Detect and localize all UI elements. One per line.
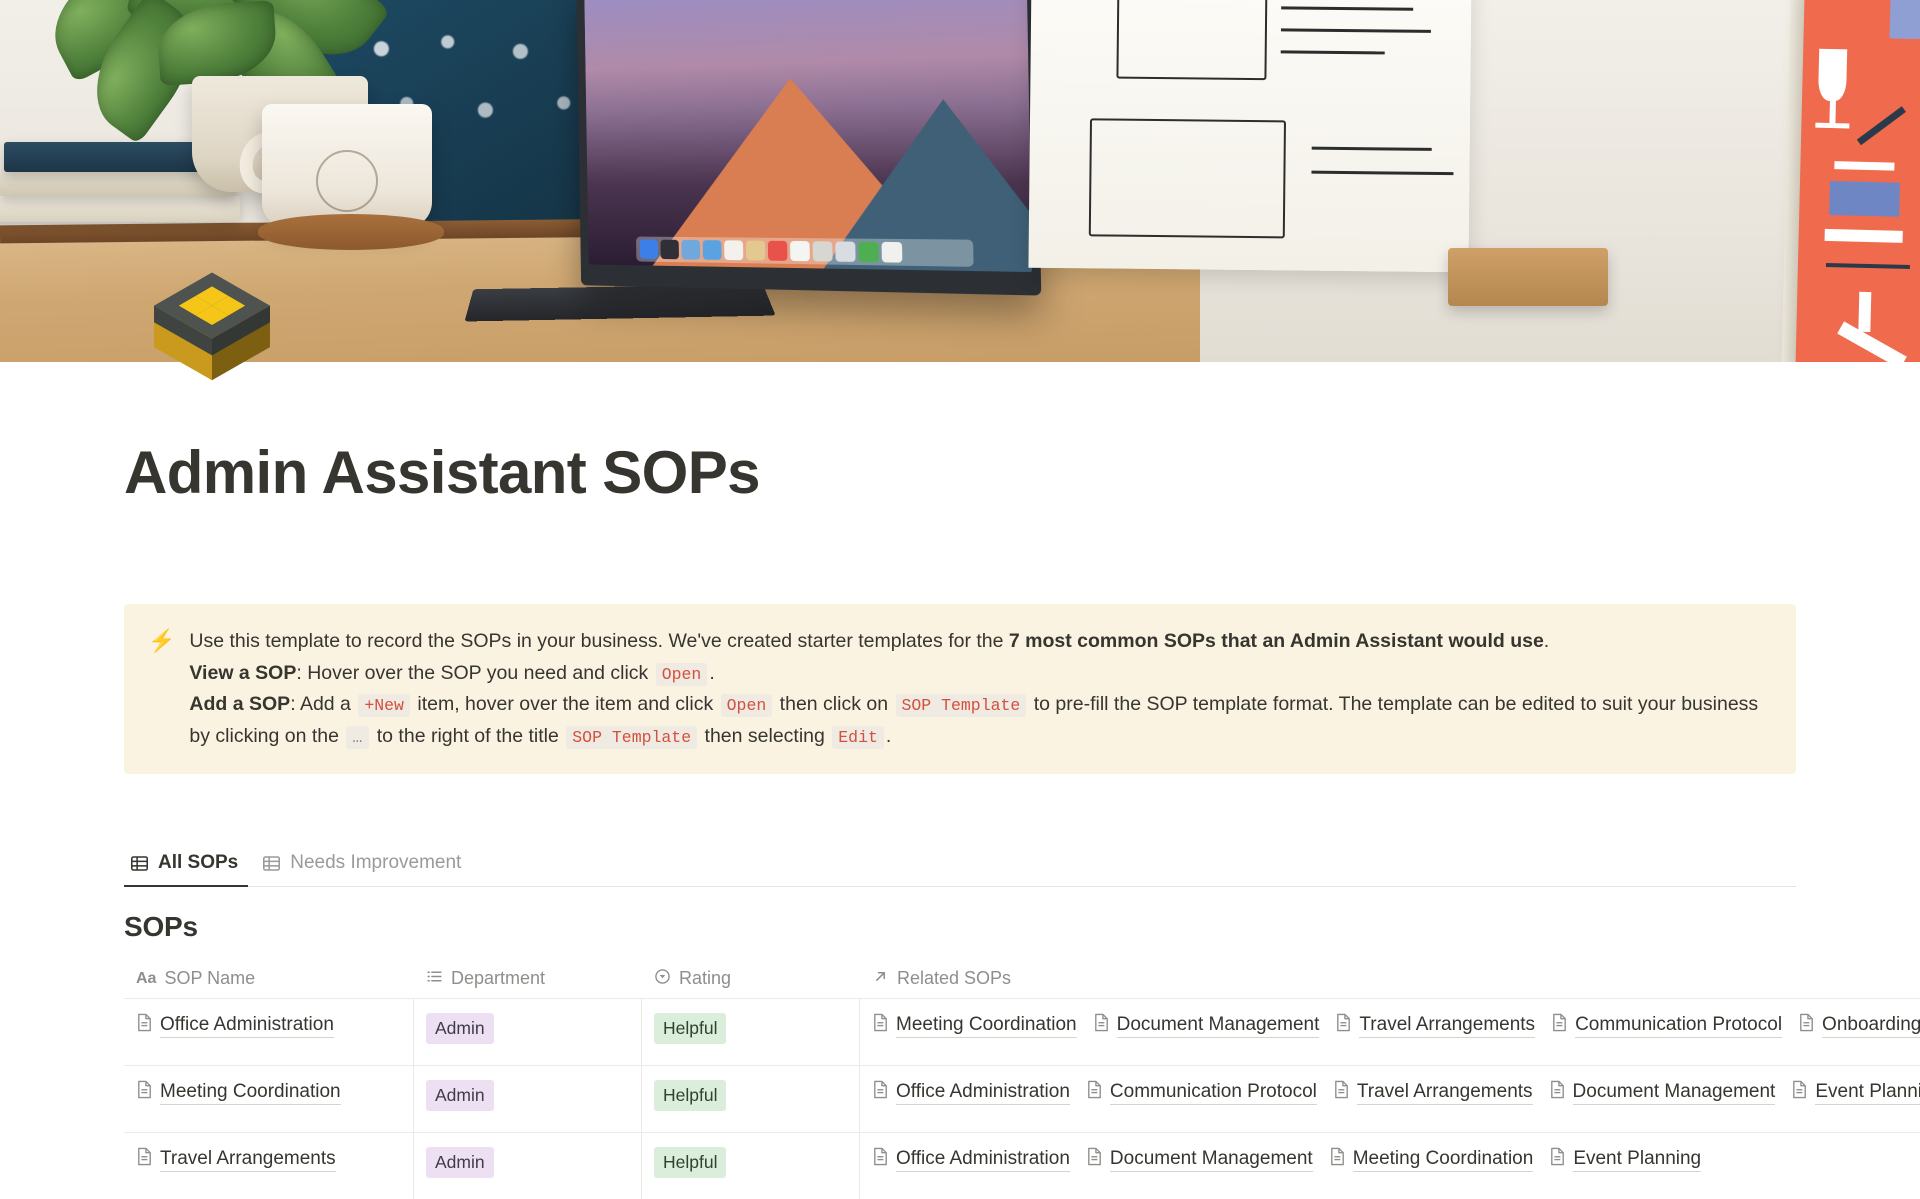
rating-tag: Helpful (654, 1080, 726, 1110)
related-sop-label: Event Planning (1815, 1081, 1920, 1105)
page-document-icon (1333, 1080, 1350, 1105)
cell-sop-name[interactable]: Meeting Coordination (124, 1066, 414, 1132)
cover-wood-block (1448, 248, 1608, 306)
rating-tag: Helpful (654, 1147, 726, 1177)
chip-open-add[interactable]: Open (721, 694, 773, 717)
related-sop-link[interactable]: Document Management (1093, 1013, 1320, 1038)
page-cover-photo (0, 0, 1920, 362)
page-document-icon (1329, 1147, 1346, 1172)
related-sop-link[interactable]: Meeting Coordination (1329, 1147, 1534, 1172)
page-document-icon (872, 1147, 889, 1172)
table-icon (130, 854, 149, 873)
related-sop-label: Travel Arrangements (1357, 1081, 1533, 1105)
related-sop-link[interactable]: Document Management (1086, 1147, 1313, 1172)
cell-sop-name[interactable]: Travel Arrangements (124, 1133, 414, 1199)
related-sop-label: Meeting Coordination (1353, 1148, 1534, 1172)
related-sop-link[interactable]: Travel Arrangements (1333, 1080, 1533, 1105)
related-sop-link[interactable]: Onboarding New Employees (1798, 1013, 1920, 1038)
callout-text: Use this template to record the SOPs in … (189, 626, 1770, 752)
cover-laptop (576, 0, 1041, 296)
department-tag: Admin (426, 1147, 494, 1177)
database-view-tabs: All SOPs Needs Improvement (124, 846, 1796, 887)
cell-rating[interactable]: Helpful (642, 1133, 860, 1199)
cell-department[interactable]: Admin (414, 1133, 642, 1199)
callout-line3-f: then selecting (699, 725, 830, 747)
cover-mug-logo (316, 150, 378, 212)
multi-select-icon (426, 968, 443, 990)
sop-name-link[interactable]: Meeting Coordination (136, 1080, 341, 1105)
cover-laptop-base (465, 284, 776, 321)
related-sop-link[interactable]: Event Planning (1549, 1147, 1701, 1172)
tab-all-sops-label: All SOPs (158, 852, 238, 874)
related-sop-label: Communication Protocol (1110, 1081, 1317, 1105)
callout-line1-bold: 7 most common SOPs that an Admin Assista… (1009, 630, 1544, 652)
callout-line1-tail: . (1544, 630, 1549, 652)
page-body: Admin Assistant SOPs ⚡ Use this template… (0, 362, 1920, 1199)
column-header-rating-label: Rating (679, 968, 731, 989)
column-header-related-sops[interactable]: Related SOPs (860, 959, 1920, 998)
related-sop-label: Onboarding New Employees (1822, 1014, 1920, 1038)
column-header-sop-name-label: SOP Name (164, 968, 255, 989)
title-aa-icon: Aa (136, 970, 156, 988)
callout-line3-a: : Add a (290, 693, 356, 715)
callout-line3-e: to the right of the title (371, 725, 564, 747)
department-tag: Admin (426, 1080, 494, 1110)
related-sop-link[interactable]: Travel Arrangements (1335, 1013, 1535, 1038)
cell-related-sops[interactable]: Office Administration Document Managemen… (860, 1133, 1920, 1199)
column-header-related-sops-label: Related SOPs (897, 968, 1011, 989)
page-icon-cube[interactable] (143, 256, 281, 394)
cell-related-sops[interactable]: Office Administration Communication Prot… (860, 1066, 1920, 1132)
tab-needs-improvement[interactable]: Needs Improvement (256, 846, 471, 886)
related-sop-link[interactable]: Meeting Coordination (872, 1013, 1077, 1038)
page-document-icon (872, 1013, 889, 1038)
related-sop-link[interactable]: Communication Protocol (1086, 1080, 1317, 1105)
cover-laptop-wallpaper (584, 0, 1032, 272)
page-document-icon (1335, 1013, 1352, 1038)
cover-sketch-paper (1028, 0, 1471, 272)
page-document-icon (1086, 1147, 1103, 1172)
table-rows-container: Office Administration Admin Helpful Meet… (124, 999, 1920, 1199)
callout-line2-b: . (709, 662, 714, 684)
cell-department[interactable]: Admin (414, 1066, 642, 1132)
page-document-icon (136, 1013, 153, 1038)
table-icon (262, 854, 281, 873)
page-document-icon (1549, 1147, 1566, 1172)
table-row[interactable]: Office Administration Admin Helpful Meet… (124, 999, 1920, 1066)
cell-rating[interactable]: Helpful (642, 999, 860, 1065)
related-sop-link[interactable]: Office Administration (872, 1080, 1070, 1105)
callout-line3-b: item, hover over the item and click (412, 693, 719, 715)
chip-open-view[interactable]: Open (656, 663, 708, 686)
related-sop-label: Event Planning (1573, 1148, 1701, 1172)
related-sop-label: Office Administration (896, 1148, 1070, 1172)
callout-view-label: View a SOP (189, 662, 296, 684)
related-sop-label: Document Management (1573, 1081, 1776, 1105)
page-document-icon (1086, 1080, 1103, 1105)
callout-line2-a: : Hover over the SOP you need and click (296, 662, 653, 684)
sop-name-link[interactable]: Travel Arrangements (136, 1147, 336, 1172)
related-sop-label: Communication Protocol (1575, 1014, 1782, 1038)
chip-sop-template-2[interactable]: SOP Template (566, 726, 697, 749)
page-document-icon (1549, 1080, 1566, 1105)
column-header-sop-name[interactable]: Aa SOP Name (124, 959, 414, 998)
column-header-department-label: Department (451, 968, 545, 989)
rating-tag: Helpful (654, 1013, 726, 1043)
cell-department[interactable]: Admin (414, 999, 642, 1065)
cover-mug-coaster (258, 214, 444, 250)
cover-coral-poster (1795, 0, 1920, 362)
select-icon (654, 968, 671, 990)
callout-block: ⚡ Use this template to record the SOPs i… (124, 604, 1796, 774)
cell-rating[interactable]: Helpful (642, 1066, 860, 1132)
callout-add-label: Add a SOP (189, 693, 290, 715)
sop-name-label: Meeting Coordination (160, 1081, 341, 1105)
page-document-icon (136, 1147, 153, 1172)
tab-all-sops[interactable]: All SOPs (124, 846, 248, 886)
related-sop-label: Document Management (1110, 1148, 1313, 1172)
callout-line1-lead: Use this template to record the SOPs in … (189, 630, 1009, 652)
page-document-icon (1791, 1080, 1808, 1105)
page-document-icon (1798, 1013, 1815, 1038)
sop-name-link[interactable]: Office Administration (136, 1013, 334, 1038)
chip-edit[interactable]: Edit (832, 726, 884, 749)
relation-arrow-icon (872, 968, 889, 990)
chip-new[interactable]: +New (358, 694, 410, 717)
lightning-bolt-icon: ⚡ (148, 626, 175, 752)
sop-name-label: Office Administration (160, 1014, 334, 1038)
callout-line3-c: then click on (774, 693, 893, 715)
related-sop-label: Meeting Coordination (896, 1014, 1077, 1038)
page-document-icon (872, 1080, 889, 1105)
cell-sop-name[interactable]: Office Administration (124, 999, 414, 1065)
related-sop-link[interactable]: Document Management (1549, 1080, 1776, 1105)
tab-needs-improvement-label: Needs Improvement (290, 852, 461, 874)
related-sop-label: Travel Arrangements (1359, 1014, 1535, 1038)
related-sop-label: Document Management (1117, 1014, 1320, 1038)
related-sop-label: Office Administration (896, 1081, 1070, 1105)
chip-ellipsis-menu[interactable]: … (346, 726, 369, 749)
sops-table: Aa SOP Name Department (124, 959, 1920, 1199)
page-document-icon (1093, 1013, 1110, 1038)
table-row[interactable]: Meeting Coordination Admin Helpful Offic… (124, 1066, 1920, 1133)
table-row[interactable]: Travel Arrangements Admin Helpful Office… (124, 1133, 1920, 1199)
page-document-icon (1551, 1013, 1568, 1038)
related-sop-link[interactable]: Office Administration (872, 1147, 1070, 1172)
database-title[interactable]: SOPs (124, 911, 1796, 943)
callout-line3-g: . (886, 725, 891, 747)
page-title[interactable]: Admin Assistant SOPs (124, 362, 1796, 506)
cell-related-sops[interactable]: Meeting Coordination Document Management… (860, 999, 1920, 1065)
column-header-department[interactable]: Department (414, 959, 642, 998)
table-header-row: Aa SOP Name Department (124, 959, 1920, 999)
column-header-rating[interactable]: Rating (642, 959, 860, 998)
chip-sop-template-1[interactable]: SOP Template (896, 694, 1027, 717)
related-sop-link[interactable]: Communication Protocol (1551, 1013, 1782, 1038)
department-tag: Admin (426, 1013, 494, 1043)
related-sop-link[interactable]: Event Planning (1791, 1080, 1920, 1105)
page-document-icon (136, 1080, 153, 1105)
sop-name-label: Travel Arrangements (160, 1148, 336, 1172)
